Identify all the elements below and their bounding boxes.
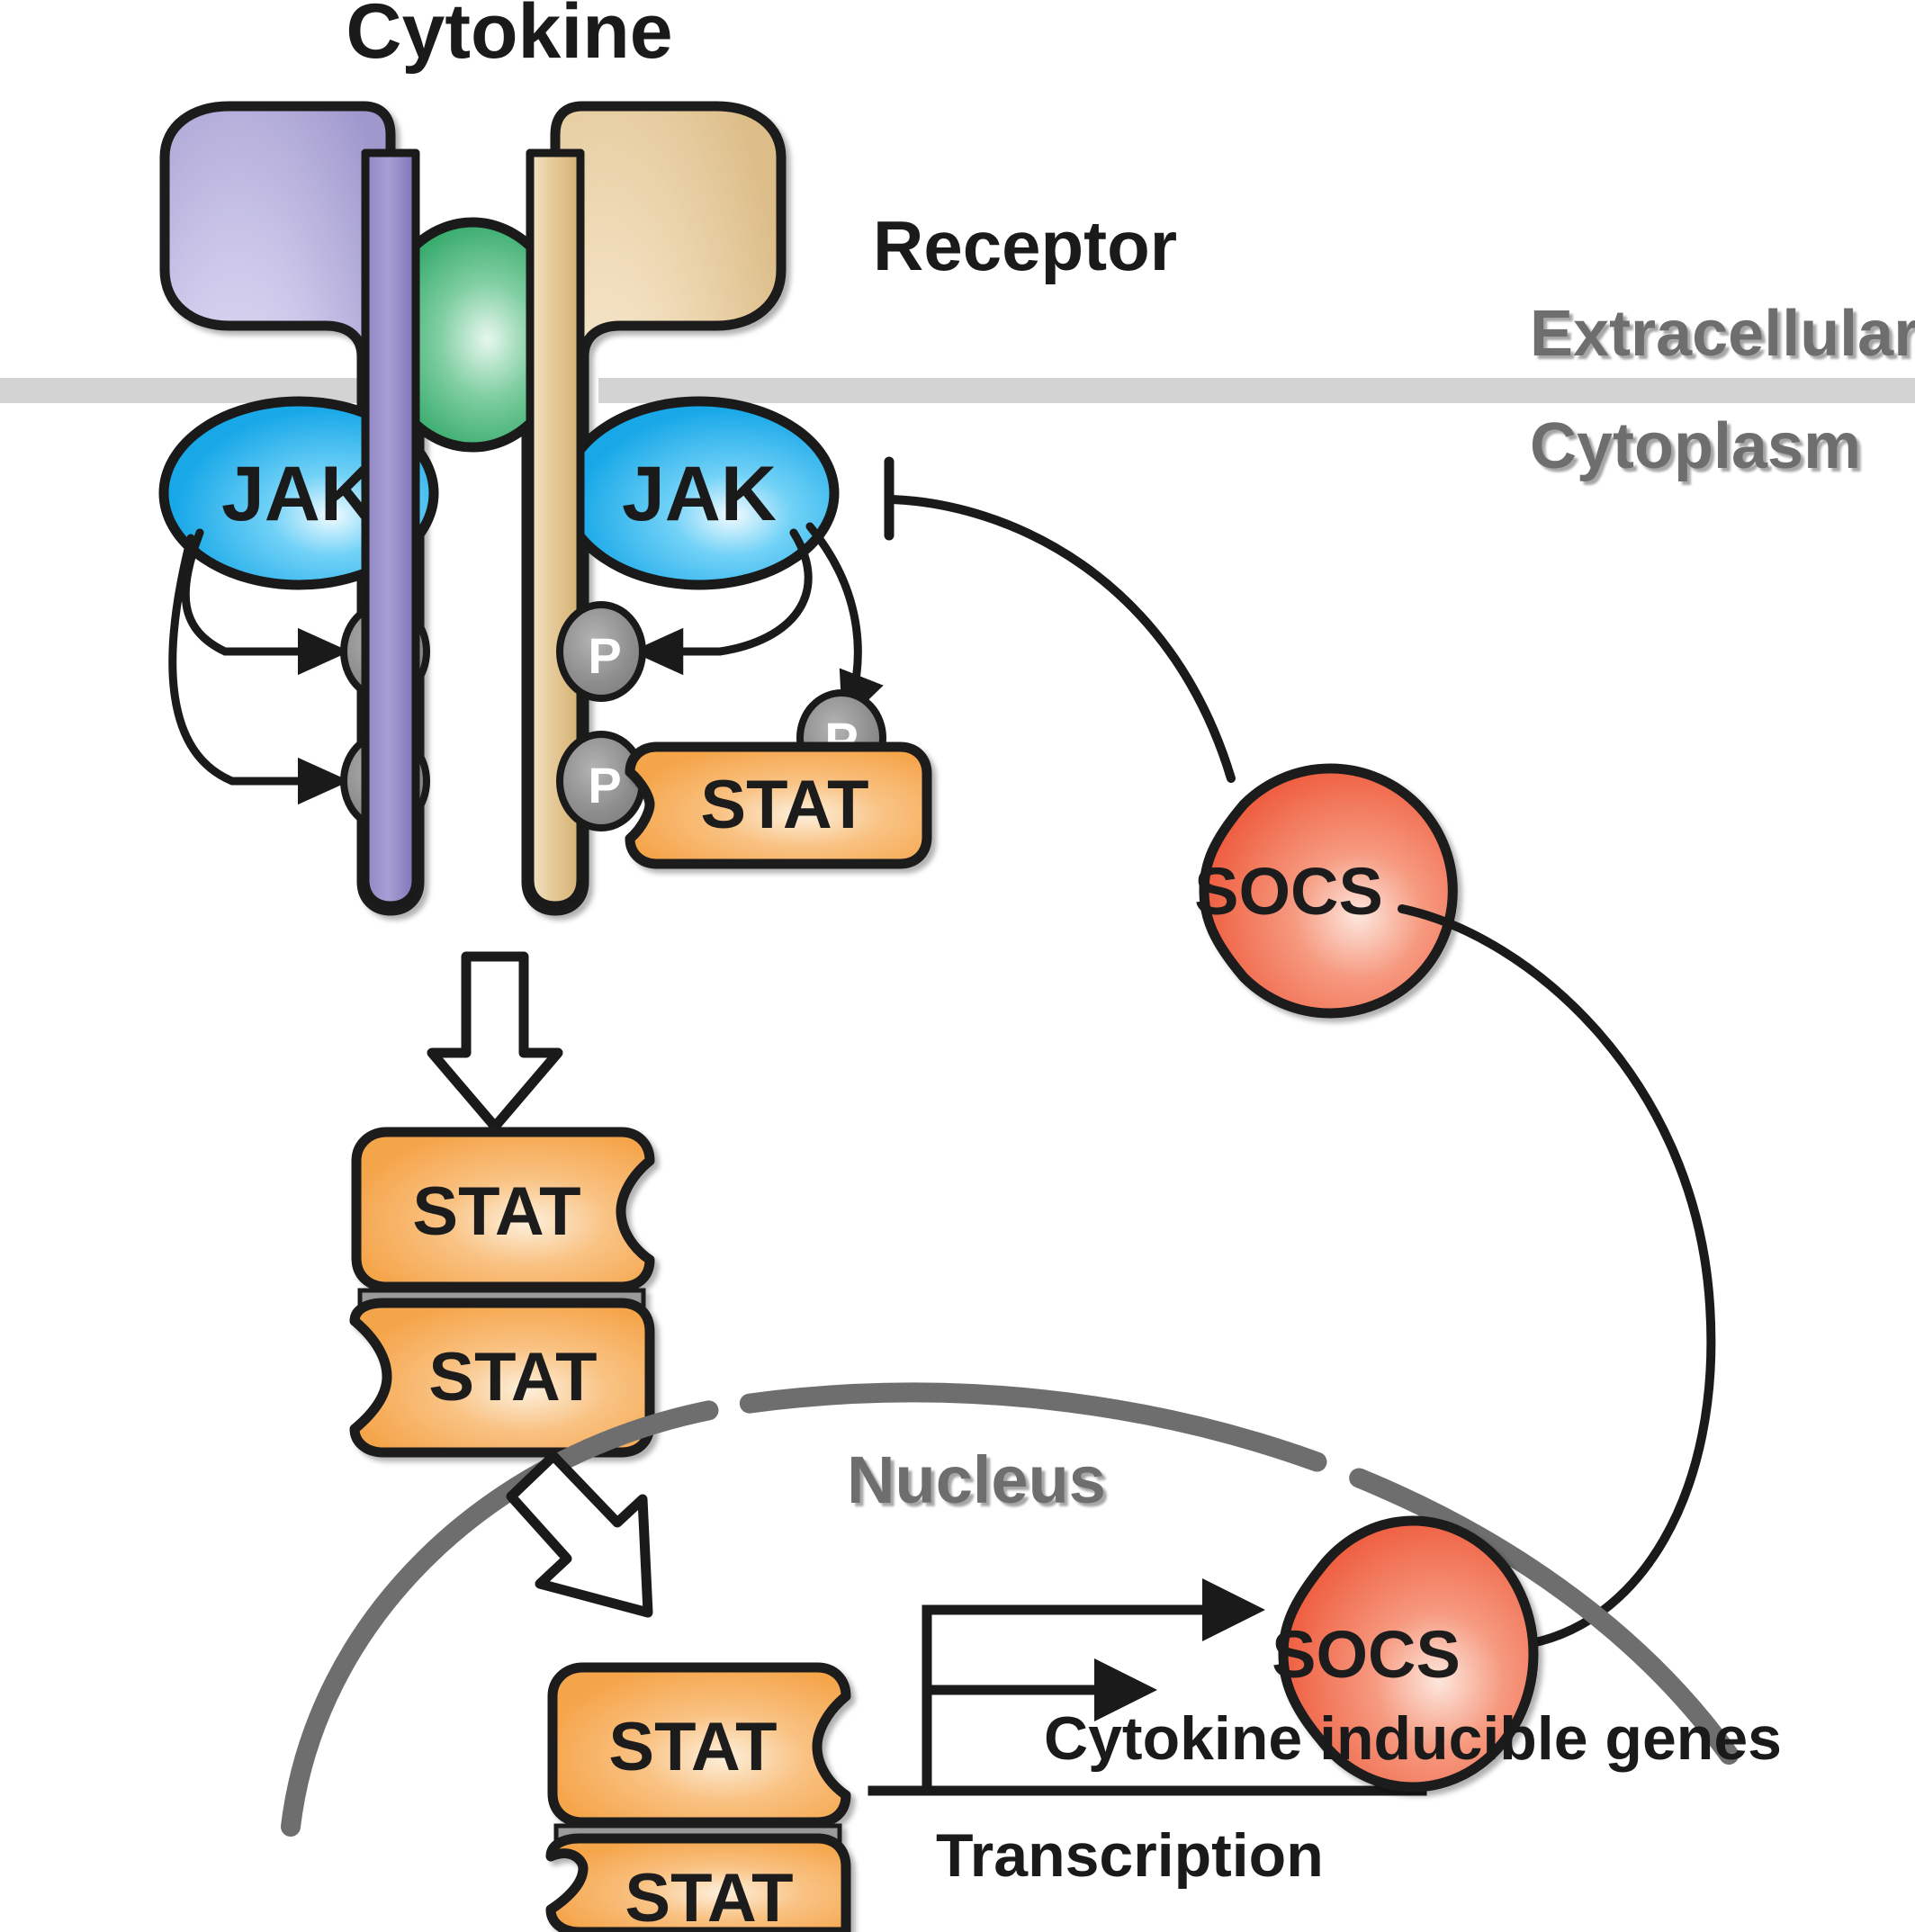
inhibition-line [892, 499, 1231, 778]
stat-receptor-bound[interactable]: STAT [630, 747, 927, 864]
jak-stat-pathway-svg: JAK JAK P P P P P STAT [0, 0, 1915, 1932]
stat-dimer-top-label: STAT [412, 1173, 580, 1250]
stat-dimer-nucleus[interactable]: STAT STAT [551, 1667, 846, 1932]
socs-inhibits-jak [889, 462, 1231, 778]
socs-label: SOCS [1194, 854, 1383, 929]
socs-label: SOCS [1272, 1617, 1461, 1692]
phospho-right-upper[interactable]: P [560, 605, 643, 698]
receptor-left-tail-overlay [365, 153, 416, 905]
block-arrow-shape [511, 1456, 648, 1613]
stat-dimer-cytoplasm[interactable]: STAT STAT [355, 1132, 650, 1452]
cytokine-inducible-genes-label: Cytokine inducible genes [1044, 1704, 1782, 1773]
stat-dimer-nuc-bottom-label: STAT [625, 1860, 793, 1932]
block-arrow-into-nucleus [511, 1456, 648, 1613]
nucleus-label: Nucleus [847, 1442, 1106, 1517]
stat-dimer-bottom-label: STAT [428, 1339, 597, 1415]
membrane-segment-right [598, 378, 1915, 403]
block-arrow-shape [432, 957, 558, 1127]
stat-label: STAT [700, 767, 868, 843]
block-arrow-to-stat-dimer [432, 957, 558, 1127]
stat-dimer-nuc-top-label: STAT [608, 1709, 777, 1785]
socs-cytoplasm[interactable]: SOCS [1194, 768, 1452, 1013]
cytokine-label: Cytokine [346, 0, 672, 75]
phospho-letter: P [588, 757, 621, 813]
pathway-diagram-canvas: JAK JAK P P P P P STAT [0, 0, 1915, 1932]
jak-right-label: JAK [622, 451, 777, 537]
transcription-label: Transcription [936, 1821, 1324, 1890]
arrow-jak-right-to-p-stat [810, 526, 858, 716]
arrowhead-to-socs [1202, 1578, 1265, 1641]
transcription-arrowheads [1094, 1578, 1265, 1721]
phospho-letter: P [588, 627, 621, 684]
receptor-label: Receptor [873, 206, 1177, 285]
membrane-segment-left [0, 378, 396, 403]
jak-left-label: JAK [221, 451, 376, 537]
jak-right[interactable]: JAK [564, 401, 834, 585]
phospho-right-lower[interactable]: P [560, 734, 643, 828]
extracellular-label: Extracellular [1530, 298, 1915, 370]
cytoplasm-label: Cytoplasm [1530, 410, 1861, 482]
